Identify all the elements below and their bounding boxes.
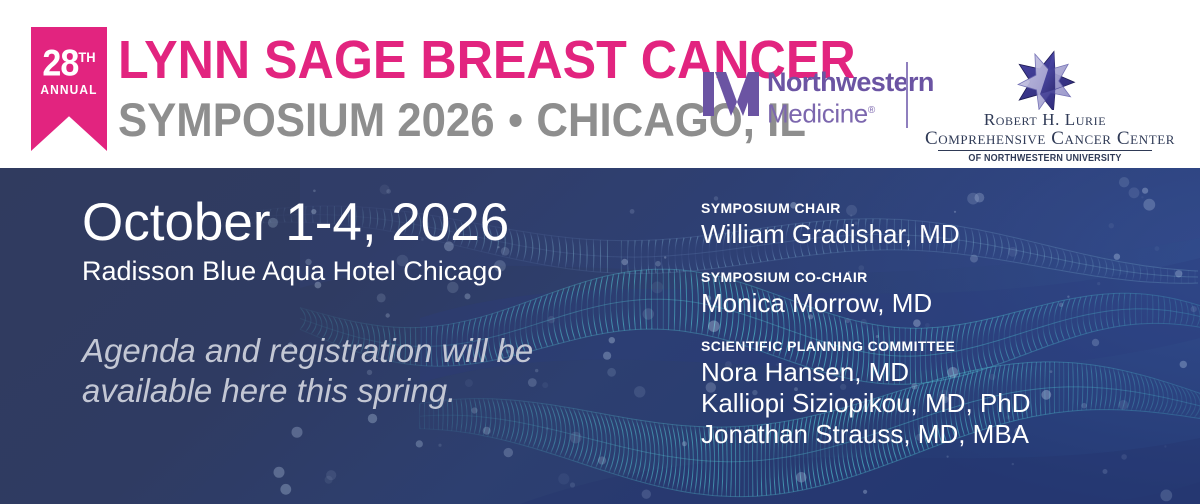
event-subtitle-symposium: SYMPOSIUM 2026 [118, 93, 495, 146]
person-name: Nora Hansen, MD [701, 357, 1121, 388]
availability-note: Agenda and registration will be availabl… [82, 331, 552, 411]
event-date: October 1-4, 2026 [82, 194, 642, 251]
bullet-separator-icon [509, 114, 521, 127]
northwestern-wordmark-line1: Northwestern [767, 68, 934, 97]
lurie-cancer-center-logo: Robert H. Lurie Comprehensive Cancer Cen… [925, 48, 1165, 156]
northwestern-medicine-wordmark: Northwestern Medicine® [767, 68, 934, 128]
people-group-chair: SYMPOSIUM CHAIR William Gradishar, MD [701, 200, 1121, 250]
lurie-wordmark-line3: OF NORTHWESTERN UNIVERSITY [937, 153, 1153, 164]
person-name: Monica Morrow, MD [701, 288, 1121, 319]
lurie-wordmark-rule [938, 150, 1152, 151]
person-name: William Gradishar, MD [701, 219, 1121, 250]
person-name: Kalliopi Siziopikou, MD, PhD [701, 388, 1121, 419]
ribbon-ordinal: 28TH [34, 39, 104, 81]
logo-divider [906, 62, 908, 128]
lurie-wordmark-line2: Comprehensive Cancer Center [925, 129, 1165, 149]
symposium-banner: 28TH ANNUAL LYNN SAGE BREAST CANCER SYMP… [0, 0, 1200, 504]
event-venue: Radisson Blue Aqua Hotel Chicago [82, 255, 642, 287]
people-group-label: SCIENTIFIC PLANNING COMMITTEE [701, 338, 1121, 354]
ribbon-annual-label: ANNUAL [34, 83, 104, 96]
lurie-wordmark-line1: Robert H. Lurie [925, 111, 1165, 129]
ribbon-ordinal-number: 28 [42, 42, 78, 83]
person-name: Jonathan Strauss, MD, MBA [701, 419, 1121, 450]
northwestern-nm-mark-icon [703, 72, 759, 116]
northwestern-wordmark-line2: Medicine® [767, 97, 934, 128]
registered-trademark-icon: ® [868, 105, 875, 116]
northwestern-medicine-logo: Northwestern Medicine® [703, 68, 903, 124]
anniversary-ribbon-badge: 28TH ANNUAL [31, 27, 107, 151]
banner-hero: October 1-4, 2026 Radisson Blue Aqua Hot… [0, 168, 1200, 504]
hero-left-column: October 1-4, 2026 Radisson Blue Aqua Hot… [82, 194, 642, 411]
lurie-interwoven-star-icon [1012, 48, 1078, 110]
ribbon-ordinal-suffix: TH [78, 49, 95, 65]
medicine-text: Medicine [767, 99, 868, 129]
people-group-committee: SCIENTIFIC PLANNING COMMITTEE Nora Hanse… [701, 338, 1121, 450]
people-group-label: SYMPOSIUM CO-CHAIR [701, 269, 1121, 285]
hero-right-column: SYMPOSIUM CHAIR William Gradishar, MD SY… [701, 200, 1121, 450]
people-group-label: SYMPOSIUM CHAIR [701, 200, 1121, 216]
banner-header: 28TH ANNUAL LYNN SAGE BREAST CANCER SYMP… [0, 0, 1200, 168]
people-group-cochair: SYMPOSIUM CO-CHAIR Monica Morrow, MD [701, 269, 1121, 319]
